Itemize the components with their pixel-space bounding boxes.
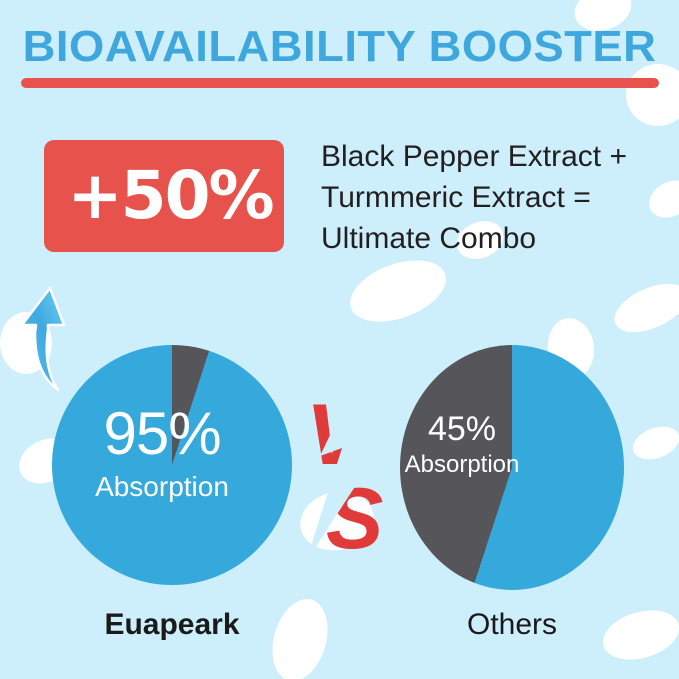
pie-left-caption: Euapeark (52, 608, 292, 642)
percent-gain-value: +50% (44, 140, 296, 252)
background-blob (607, 274, 679, 342)
combo-line-1: Black Pepper Extract + (321, 137, 669, 178)
infographic-poster: BIOAVAILABILITY BOOSTER +50% Black Peppe… (0, 0, 679, 679)
pie-chart-others (400, 345, 624, 590)
background-blob (628, 421, 679, 466)
background-blob (626, 64, 679, 126)
versus-badge: V S (292, 372, 396, 560)
combo-line-2: Turmmeric Extract = (321, 178, 669, 219)
page-title: BIOAVAILABILITY BOOSTER (0, 22, 679, 72)
background-blob (342, 249, 454, 334)
pie-right-caption: Others (400, 608, 624, 642)
pie-chart-euapeark (52, 345, 292, 585)
title-underline-rule (21, 78, 659, 88)
combo-description: Black Pepper Extract + Turmmeric Extract… (321, 137, 669, 259)
combo-line-3: Ultimate Combo (321, 219, 669, 260)
